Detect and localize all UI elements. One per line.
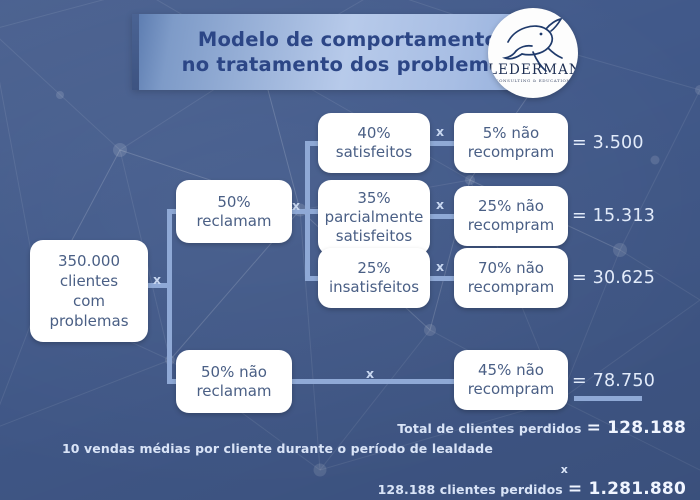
- summary-loyalty-label: 10 vendas médias por cliente durante o p…: [62, 441, 493, 456]
- multiplier-x-row4: x: [366, 366, 374, 381]
- connector-level1-spine: [167, 209, 172, 384]
- summary-lost-value: = 1.281.880: [568, 479, 686, 499]
- result-insatisfeitos: = 30.625: [572, 268, 655, 288]
- node-25-nao-recompram[interactable]: 25% não recompram: [454, 186, 568, 246]
- summary-lost-label: 128.188 clientes perdidos: [378, 482, 563, 497]
- multiplier-x-level2: x: [292, 198, 300, 213]
- result-satisfeitos: = 3.500: [572, 133, 644, 153]
- logo-tagline: CONSULTING & EDUCATION: [488, 78, 578, 83]
- lederman-logo: LEDERMAN CONSULTING & EDUCATION: [488, 8, 578, 98]
- node-45-nao-recompram[interactable]: 45% não recompram: [454, 350, 568, 410]
- summary-block: Total de clientes perdidos = 128.188 10 …: [0, 418, 686, 499]
- multiplier-x-level1: x: [153, 272, 161, 287]
- multiplier-x-row3: x: [436, 259, 444, 274]
- summary-lost-line: 128.188 clientes perdidos = 1.281.880: [0, 479, 686, 499]
- summary-total-line: Total de clientes perdidos = 128.188: [0, 418, 686, 438]
- node-satisfeitos[interactable]: 40% satisfeitos: [318, 113, 430, 173]
- page-title: Modelo de comportamento no tratamento do…: [160, 27, 536, 77]
- result-parcialmente: = 15.313: [572, 206, 655, 226]
- summary-total-label: Total de clientes perdidos: [397, 421, 581, 436]
- summary-multiplier-line: x: [0, 458, 686, 479]
- multiplier-x-row2: x: [436, 197, 444, 212]
- node-start-clients[interactable]: 350.000 clientes com problemas: [30, 240, 148, 342]
- summary-total-value: = 128.188: [587, 418, 686, 438]
- node-70-nao-recompram[interactable]: 70% não recompram: [454, 248, 568, 308]
- banner-left-edge: [132, 14, 139, 90]
- logo-wordmark: LEDERMAN: [488, 62, 578, 78]
- node-reclamam[interactable]: 50% reclamam: [176, 180, 292, 243]
- node-parcialmente-satisfeitos[interactable]: 35% parcialmente satisfeitos: [318, 180, 430, 255]
- multiplier-x-row1: x: [436, 124, 444, 139]
- connector-nao-reclamam-repurchase: [290, 379, 460, 384]
- result-nao-reclamam: = 78.750: [572, 371, 655, 391]
- node-5-nao-recompram[interactable]: 5% não recompram: [454, 113, 568, 173]
- node-insatisfeitos[interactable]: 25% insatisfeitos: [318, 248, 430, 308]
- node-nao-reclamam[interactable]: 50% não reclamam: [176, 350, 292, 413]
- dolphin-icon: [488, 8, 578, 98]
- summary-multiplier: x: [561, 463, 568, 476]
- header-banner: Modelo de comportamento no tratamento do…: [132, 14, 544, 90]
- result-underline: [574, 396, 642, 401]
- summary-loyalty-line: 10 vendas médias por cliente durante o p…: [0, 438, 686, 458]
- infographic-canvas: Modelo de comportamento no tratamento do…: [0, 0, 700, 500]
